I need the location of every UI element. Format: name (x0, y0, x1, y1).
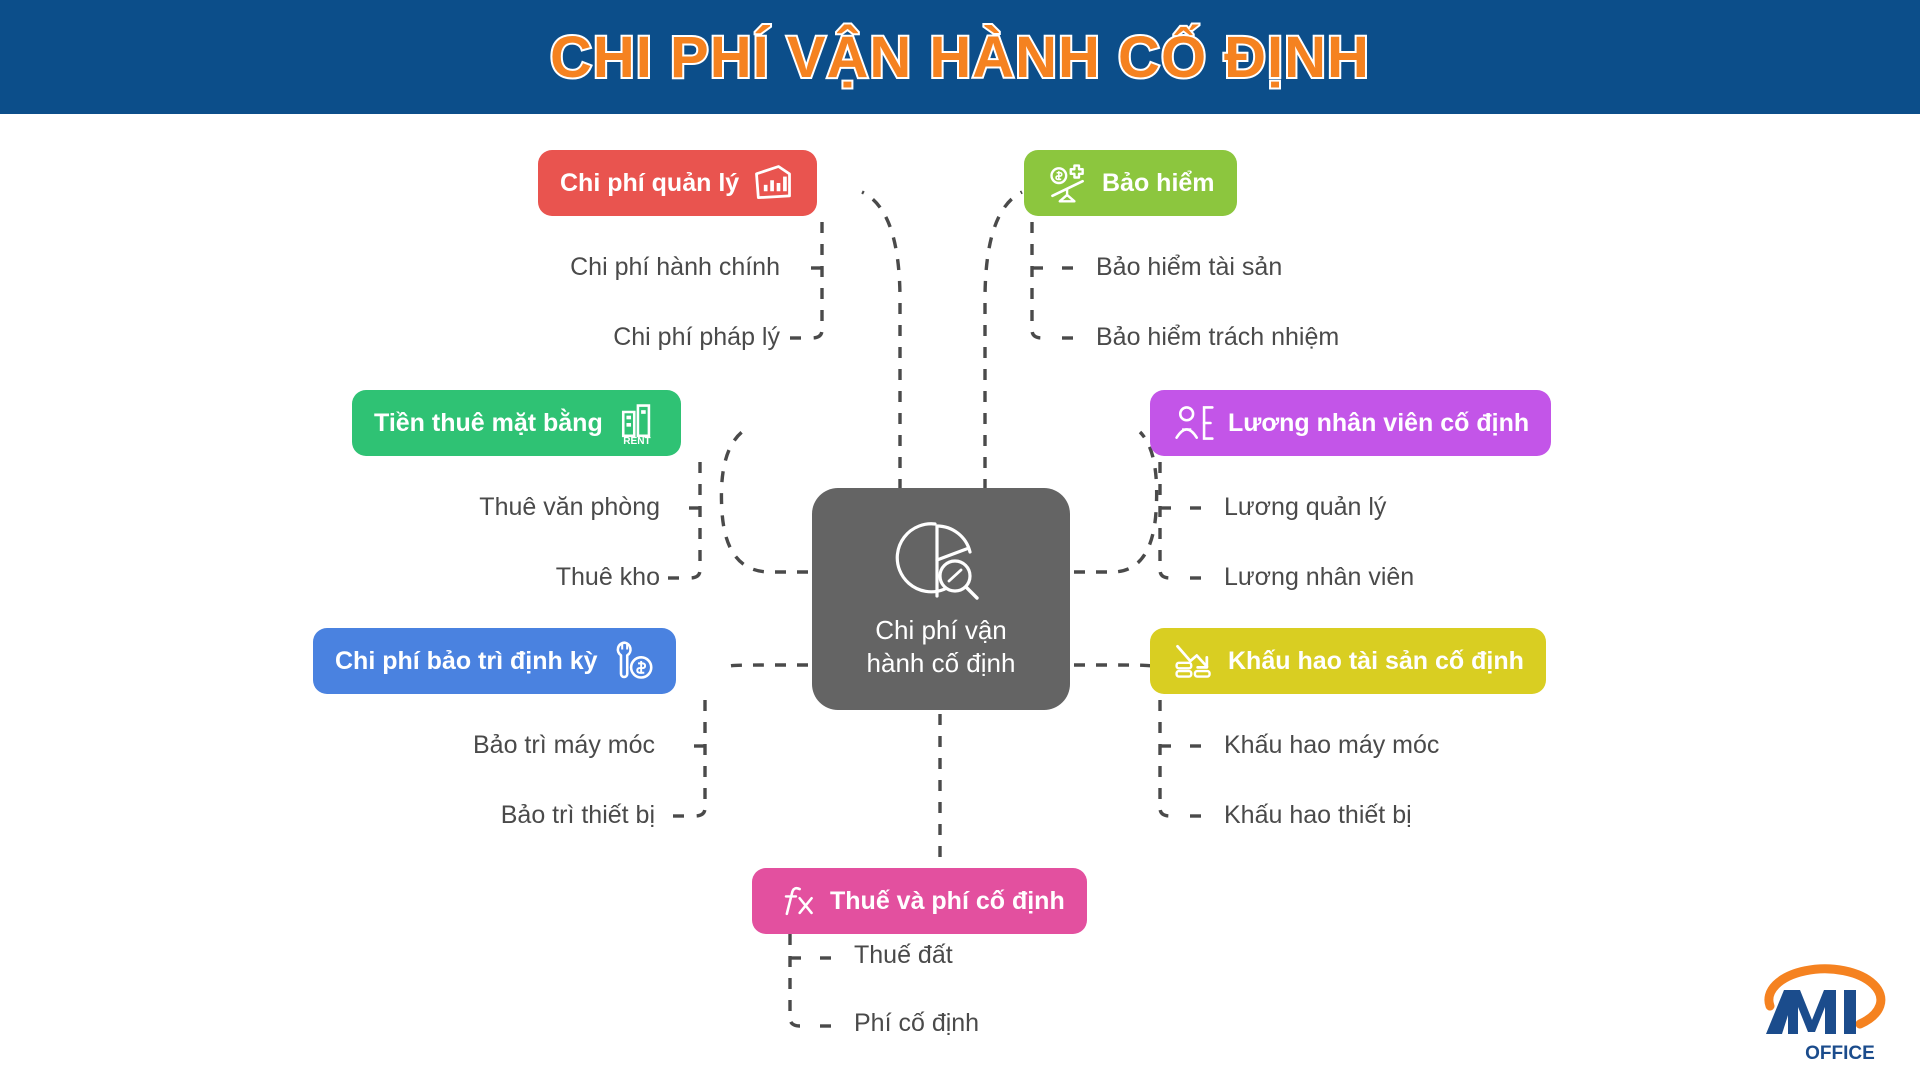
fx-formula-icon (774, 879, 818, 923)
sub-item: Bảo trì thiết bị (300, 801, 655, 830)
sub-item: Phí cố định (854, 1009, 979, 1038)
insurance-scale-icon (1046, 161, 1090, 205)
page-title: CHI PHÍ VẬN HÀNH CỐ ĐỊNH (550, 24, 1370, 91)
branch-bao-hiem[interactable]: Bảo hiểm (1024, 150, 1237, 216)
branch-label: Tiền thuê mặt bằng (374, 409, 603, 438)
center-label: Chi phí vận hành cố định (867, 614, 1016, 680)
branch-label: Thuế và phí cố định (830, 887, 1065, 916)
sub-item: Bảo hiểm trách nhiệm (1096, 323, 1339, 352)
wrench-dollar-icon (610, 639, 654, 683)
branch-quan-ly[interactable]: Chi phí quản lý (538, 150, 817, 216)
depreciation-chart-icon (1172, 639, 1216, 683)
sub-item: Bảo hiểm tài sản (1096, 253, 1282, 282)
rent-building-icon: RENT (615, 401, 659, 445)
center-node[interactable]: Chi phí vận hành cố định (812, 488, 1070, 710)
employee-payroll-icon (1172, 401, 1216, 445)
branch-label: Chi phí quản lý (560, 169, 739, 198)
sub-item: Thuê kho (300, 563, 660, 592)
sub-item: Khấu hao máy móc (1224, 731, 1439, 760)
ami-office-logo: OFFICE (1752, 962, 1902, 1066)
page-header: CHI PHÍ VẬN HÀNH CỐ ĐỊNH (0, 0, 1920, 114)
branch-luong[interactable]: Lương nhân viên cố định (1150, 390, 1551, 456)
sub-item: Khấu hao thiết bị (1224, 801, 1412, 830)
pie-chart-magnifier-icon (895, 518, 987, 604)
branch-khau-hao[interactable]: Khấu hao tài sản cố định (1150, 628, 1546, 694)
bar-chart-tag-icon (751, 161, 795, 205)
branch-bao-tri[interactable]: Chi phí bảo trì định kỳ (313, 628, 676, 694)
sub-item: Lương quản lý (1224, 493, 1386, 522)
sub-item: Thuê văn phòng (300, 493, 660, 522)
sub-item: Chi phí hành chính (400, 253, 780, 282)
branch-label: Khấu hao tài sản cố định (1228, 647, 1524, 676)
sub-item: Lương nhân viên (1224, 563, 1414, 592)
branch-thue-phi[interactable]: Thuế và phí cố định (752, 868, 1087, 934)
sub-item: Bảo trì máy móc (300, 731, 655, 760)
sub-item: Chi phí pháp lý (400, 323, 780, 352)
branch-label: Lương nhân viên cố định (1228, 409, 1529, 438)
branch-mat-bang[interactable]: Tiền thuê mặt bằng RENT (352, 390, 681, 456)
logo-sub: OFFICE (1805, 1043, 1875, 1064)
sub-item: Thuế đất (854, 941, 953, 970)
branch-label: Chi phí bảo trì định kỳ (335, 647, 598, 676)
svg-text:RENT: RENT (623, 436, 651, 445)
branch-label: Bảo hiểm (1102, 169, 1215, 198)
